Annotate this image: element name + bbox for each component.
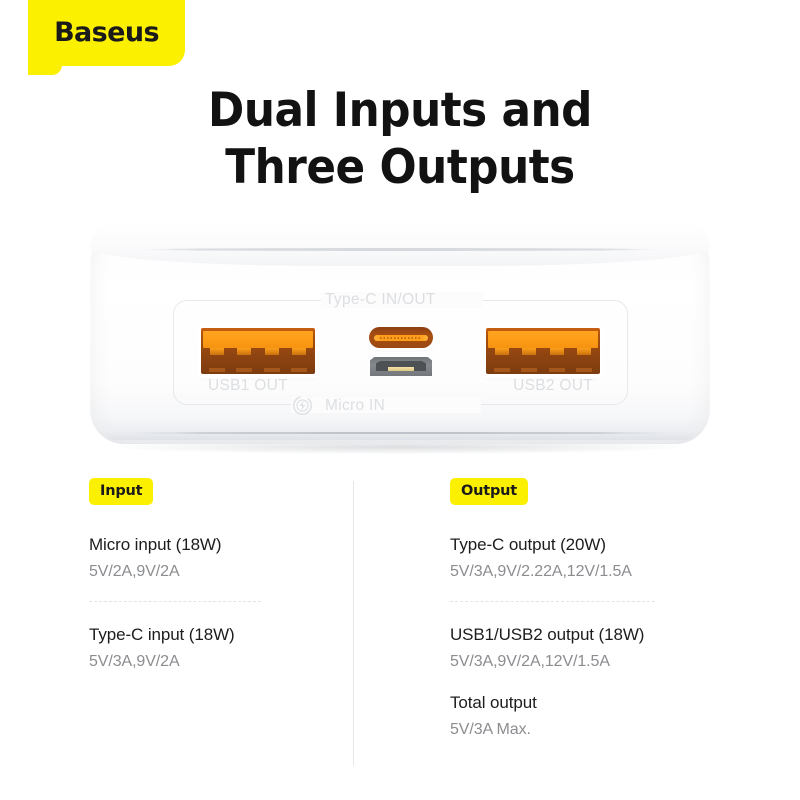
usb1-bottom-contacts	[203, 367, 313, 372]
usb1-cavity	[201, 328, 315, 374]
spec-dashed-divider	[89, 601, 261, 603]
brand-badge: Baseus	[28, 0, 185, 66]
spec-column-output: Output Type-C output (20W) 5V/3A,9V/2.22…	[450, 478, 750, 739]
usb1-notches	[203, 348, 313, 355]
usb2-port	[484, 326, 602, 376]
headline-line-2: Three Outputs	[28, 139, 772, 196]
spec-value: 5V/3A,9V/2A	[89, 653, 339, 671]
usb2-bottom-contacts	[488, 367, 598, 372]
port-label-type-c: Type-C IN/OUT	[325, 291, 436, 309]
port-label-micro: Micro IN	[325, 397, 385, 415]
usb2-notches	[488, 348, 598, 355]
spec-value: 5V/3A,9V/2A,12V/1.5A	[450, 653, 750, 671]
spec-dashed-divider	[450, 601, 655, 603]
port-label-usb2: USB2 OUT	[513, 377, 593, 395]
power-bank-top-face	[90, 222, 710, 266]
usb1-port	[199, 326, 317, 376]
micro-usb-cavity	[376, 361, 426, 371]
spec-item-typec-input: Type-C input (18W) 5V/3A,9V/2A	[89, 625, 339, 671]
power-bank-base	[96, 418, 704, 440]
spec-value: 5V/3A,9V/2.22A,12V/1.5A	[450, 563, 750, 581]
headline-line-1: Dual Inputs and	[28, 82, 772, 139]
type-c-port	[369, 327, 433, 348]
micro-usb-port	[370, 357, 432, 376]
port-outline-gap-bottom	[291, 397, 481, 413]
page-title: Dual Inputs and Three Outputs	[28, 82, 772, 197]
spec-column-input: Input Micro input (18W) 5V/2A,9V/2A Type…	[89, 478, 339, 671]
port-outline-group: Type-C IN/OUT Micro IN USB1 OUT USB2 OUT	[173, 300, 628, 405]
spec-value: 5V/3A Max.	[450, 721, 750, 739]
spec-title: Micro input (18W)	[89, 535, 339, 555]
spec-title: Total output	[450, 693, 750, 713]
power-bank-body: Type-C IN/OUT Micro IN USB1 OUT USB2 OUT	[90, 222, 710, 444]
power-bank-base-line	[124, 432, 676, 434]
output-badge: Output	[450, 478, 528, 505]
spec-title: Type-C input (18W)	[89, 625, 339, 645]
power-bank-top-seam	[138, 248, 662, 251]
spec-item-total-output: Total output 5V/3A Max.	[450, 693, 750, 739]
specifications-section: Input Micro input (18W) 5V/2A,9V/2A Type…	[0, 478, 800, 778]
usb1-tongue	[203, 331, 313, 348]
spec-item-typec-output: Type-C output (20W) 5V/3A,9V/2.22A,12V/1…	[450, 535, 750, 581]
usb2-tongue	[488, 331, 598, 348]
input-badge: Input	[89, 478, 153, 505]
product-image: Type-C IN/OUT Micro IN USB1 OUT USB2 OUT	[0, 212, 800, 472]
spec-item-usb-output: USB1/USB2 output (18W) 5V/3A,9V/2A,12V/1…	[450, 625, 750, 671]
spec-title: Type-C output (20W)	[450, 535, 750, 555]
spec-column-divider	[353, 481, 354, 766]
usb2-cavity	[486, 328, 600, 374]
brand-name: Baseus	[54, 17, 159, 48]
spec-item-micro-input: Micro input (18W) 5V/2A,9V/2A	[89, 535, 339, 581]
spec-title: USB1/USB2 output (18W)	[450, 625, 750, 645]
port-label-usb1: USB1 OUT	[208, 377, 288, 395]
spec-value: 5V/2A,9V/2A	[89, 563, 339, 581]
type-c-tongue	[374, 335, 428, 341]
fast-charge-bolt-icon	[292, 395, 313, 416]
micro-usb-pins	[388, 367, 414, 372]
